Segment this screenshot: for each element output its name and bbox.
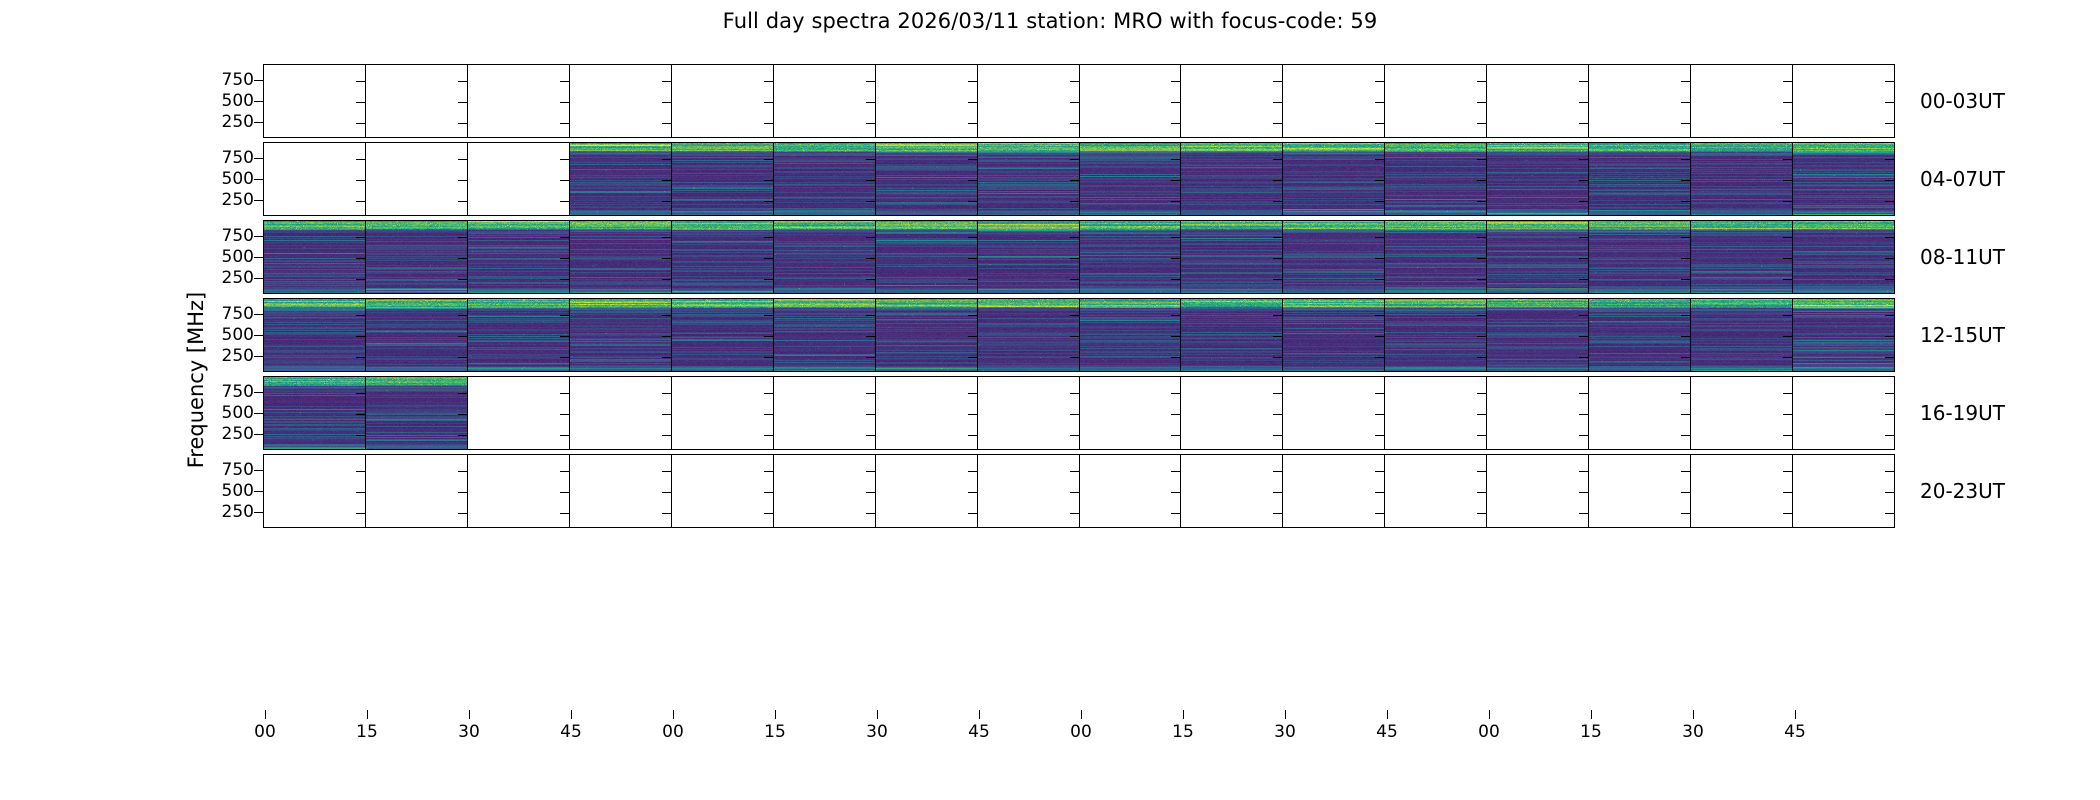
row-cells (264, 221, 1894, 293)
cell-tick-marks (458, 455, 467, 527)
spectrogram-cell-empty[interactable] (1691, 377, 1793, 449)
cell-tick-marks (560, 143, 569, 215)
spectrogram-cell-empty[interactable] (672, 65, 774, 137)
x-tick-mark (877, 710, 878, 719)
cell-tick-marks (356, 455, 365, 527)
cell-tick-marks (560, 377, 569, 449)
spectrogram-cell-empty[interactable] (366, 65, 468, 137)
row-time-label: 04-07UT (1920, 169, 2005, 189)
spectrogram-cell[interactable] (1385, 221, 1487, 293)
spectrogram-cell[interactable] (570, 143, 672, 215)
spectrogram-cell[interactable] (876, 143, 978, 215)
cell-tick-marks (1579, 377, 1588, 449)
y-tick-label: 250 (196, 348, 254, 365)
y-tick-marks (254, 454, 263, 528)
spectrogram-cell[interactable] (672, 221, 774, 293)
y-tick-marks (254, 142, 263, 216)
spectrogram-cell-empty[interactable] (1181, 455, 1283, 527)
cell-tick-marks (1579, 455, 1588, 527)
y-tick-label: 750 (196, 462, 254, 479)
spectrogram-image (774, 221, 875, 293)
spectrogram-cell[interactable] (876, 299, 978, 371)
page-title: Full day spectra 2026/03/11 station: MRO… (0, 8, 2100, 34)
cell-tick-marks (1070, 455, 1079, 527)
cell-tick-marks (764, 65, 773, 137)
spectrogram-cell[interactable] (1181, 299, 1283, 371)
spectrogram-cell-empty[interactable] (1080, 65, 1182, 137)
cell-tick-marks (458, 143, 467, 215)
spectrogram-cell-empty[interactable] (1283, 455, 1385, 527)
spectrogram-cell[interactable] (264, 299, 366, 371)
cell-tick-marks (1375, 455, 1384, 527)
cell-tick-marks (1885, 455, 1894, 527)
spectrogram-cell-empty[interactable] (264, 143, 366, 215)
spectrogram-cell[interactable] (774, 221, 876, 293)
spectrogram-cell[interactable] (1691, 143, 1793, 215)
spectrogram-cell[interactable] (468, 299, 570, 371)
row-cells (264, 377, 1894, 449)
cell-tick-marks (764, 377, 773, 449)
spectrogram-cell-empty[interactable] (570, 377, 672, 449)
spectrogram-cell[interactable] (1487, 221, 1589, 293)
row-time-label: 08-11UT (1920, 247, 2005, 267)
cell-tick-marks (1273, 65, 1282, 137)
spectrogram-image (1181, 299, 1282, 371)
spectrogram-image (1080, 299, 1181, 371)
spectrogram-cell-empty[interactable] (1080, 377, 1182, 449)
spectrogram-cell-empty[interactable] (876, 377, 978, 449)
spectrogram-cell[interactable] (876, 221, 978, 293)
cell-tick-marks (560, 65, 569, 137)
spectrogram-cell[interactable] (978, 221, 1080, 293)
row-axes (263, 298, 1895, 372)
spectrogram-image (1487, 299, 1588, 371)
spectrogram-cell-empty[interactable] (1691, 455, 1793, 527)
spectrogram-image (264, 299, 365, 371)
spectrogram-cell-empty[interactable] (570, 65, 672, 137)
spectrogram-cell-empty[interactable] (978, 65, 1080, 137)
spectrogram-cell-empty[interactable] (1487, 377, 1589, 449)
y-tick-label: 250 (196, 114, 254, 131)
spectrogram-image (1181, 221, 1282, 293)
cell-tick-marks (1273, 455, 1282, 527)
spectrogram-image (1589, 143, 1690, 215)
x-tick-label: 45 (1367, 724, 1407, 741)
spectrogram-figure: Full day spectra 2026/03/11 station: MRO… (0, 0, 2100, 800)
spectrogram-image (264, 377, 365, 449)
x-tick-mark (1183, 710, 1184, 719)
y-tick-label: 750 (196, 384, 254, 401)
spectrogram-cell-empty[interactable] (1589, 455, 1691, 527)
spectrogram-cell[interactable] (1487, 299, 1589, 371)
spectrogram-cell-empty[interactable] (774, 65, 876, 137)
x-tick-label: 15 (347, 724, 387, 741)
spectrogram-cell[interactable] (1589, 299, 1691, 371)
spectrogram-cell-empty[interactable] (264, 65, 366, 137)
row-cells (264, 143, 1894, 215)
cell-tick-marks (1681, 455, 1690, 527)
spectrogram-cell-empty[interactable] (876, 455, 978, 527)
y-tick-label: 250 (196, 192, 254, 209)
spectrogram-cell[interactable] (1793, 299, 1894, 371)
cell-tick-marks (662, 377, 671, 449)
x-tick-label: 45 (959, 724, 999, 741)
x-tick-label: 15 (755, 724, 795, 741)
x-tick-mark (367, 710, 368, 719)
x-tick-mark (979, 710, 980, 719)
x-tick-mark (1591, 710, 1592, 719)
x-tick-label: 00 (1061, 724, 1101, 741)
spectrogram-cell[interactable] (1793, 221, 1894, 293)
spectrogram-cell-empty[interactable] (774, 377, 876, 449)
cell-tick-marks (662, 65, 671, 137)
spectrogram-image (774, 299, 875, 371)
spectrogram-cell[interactable] (366, 377, 468, 449)
row-time-label: 20-23UT (1920, 481, 2005, 501)
spectrogram-cell[interactable] (468, 221, 570, 293)
x-tick-label: 15 (1571, 724, 1611, 741)
x-tick-mark (1081, 710, 1082, 719)
row-time-label: 12-15UT (1920, 325, 2005, 345)
spectrogram-image (570, 143, 671, 215)
spectrogram-cell[interactable] (1080, 299, 1182, 371)
spectrogram-cell[interactable] (1589, 143, 1691, 215)
cell-tick-marks (1171, 377, 1180, 449)
spectrogram-cell-empty[interactable] (1181, 65, 1283, 137)
row-axes (263, 220, 1895, 294)
cell-tick-marks (1070, 377, 1079, 449)
spectrogram-image (366, 299, 467, 371)
spectrogram-row-16-19ut (263, 376, 1895, 450)
spectrogram-cell[interactable] (1487, 143, 1589, 215)
x-tick-mark (469, 710, 470, 719)
cell-tick-marks (1171, 455, 1180, 527)
cell-tick-marks (968, 455, 977, 527)
cell-tick-marks (1783, 455, 1792, 527)
y-tick-label: 250 (196, 426, 254, 443)
x-tick-label: 30 (1673, 724, 1713, 741)
spectrogram-cell-empty[interactable] (468, 455, 570, 527)
cell-tick-marks (1375, 377, 1384, 449)
spectrogram-row-08-11ut (263, 220, 1895, 294)
spectrogram-cell-empty[interactable] (366, 143, 468, 215)
cell-tick-marks (560, 455, 569, 527)
spectrogram-cell-empty[interactable] (468, 377, 570, 449)
spectrogram-cell-empty[interactable] (1793, 377, 1894, 449)
spectrogram-image (366, 221, 467, 293)
spectrogram-cell-empty[interactable] (468, 143, 570, 215)
spectrogram-image (774, 143, 875, 215)
spectrogram-cell-empty[interactable] (1385, 455, 1487, 527)
spectrogram-image (1691, 143, 1792, 215)
spectrogram-cell[interactable] (774, 299, 876, 371)
spectrogram-cell-empty[interactable] (570, 455, 672, 527)
spectrogram-image (1283, 143, 1384, 215)
x-tick-label: 00 (653, 724, 693, 741)
cell-tick-marks (866, 65, 875, 137)
spectrogram-cell[interactable] (978, 143, 1080, 215)
spectrogram-image (1385, 143, 1486, 215)
cell-tick-marks (1783, 377, 1792, 449)
spectrogram-image (1793, 143, 1894, 215)
spectrogram-image (1080, 221, 1181, 293)
cell-tick-marks (1070, 65, 1079, 137)
x-tick-label: 00 (245, 724, 285, 741)
spectrogram-image (978, 221, 1079, 293)
spectrogram-cell-empty[interactable] (876, 65, 978, 137)
spectrogram-cell-empty[interactable] (774, 455, 876, 527)
x-tick-label: 00 (1469, 724, 1509, 741)
spectrogram-cell[interactable] (1385, 143, 1487, 215)
cell-tick-marks (356, 143, 365, 215)
spectrogram-cell[interactable] (1385, 299, 1487, 371)
cell-tick-marks (458, 65, 467, 137)
row-axes (263, 64, 1895, 138)
spectrogram-image (876, 221, 977, 293)
cell-tick-marks (968, 65, 977, 137)
cell-tick-marks (1375, 65, 1384, 137)
spectrogram-cell-empty[interactable] (978, 455, 1080, 527)
spectrogram-image (1283, 299, 1384, 371)
spectrogram-cell[interactable] (366, 299, 468, 371)
cell-tick-marks (1681, 377, 1690, 449)
cell-tick-marks (764, 455, 773, 527)
row-time-label: 00-03UT (1920, 91, 2005, 111)
spectrogram-cell[interactable] (264, 377, 366, 449)
spectrogram-image (1080, 143, 1181, 215)
spectrogram-image (468, 221, 569, 293)
spectrogram-image (366, 377, 467, 449)
x-tick-label: 30 (1265, 724, 1305, 741)
spectrogram-image (1385, 299, 1486, 371)
spectrogram-image (1589, 299, 1690, 371)
x-tick-mark (1489, 710, 1490, 719)
row-cells (264, 455, 1894, 527)
spectrogram-cell-empty[interactable] (1181, 377, 1283, 449)
spectrogram-cell[interactable] (1691, 221, 1793, 293)
spectrogram-cell-empty[interactable] (1487, 455, 1589, 527)
x-tick-label: 30 (449, 724, 489, 741)
spectrogram-cell-empty[interactable] (1283, 65, 1385, 137)
spectrogram-image (1181, 143, 1282, 215)
spectrogram-cell-empty[interactable] (1487, 65, 1589, 137)
x-tick-label: 45 (1775, 724, 1815, 741)
y-tick-marks (254, 376, 263, 450)
spectrogram-cell-empty[interactable] (1080, 455, 1182, 527)
x-tick-label: 15 (1163, 724, 1203, 741)
spectrogram-image (1487, 143, 1588, 215)
x-tick-mark (775, 710, 776, 719)
x-axis: 00153045001530450015304500153045 (263, 710, 1895, 750)
spectrogram-cell-empty[interactable] (1283, 377, 1385, 449)
y-tick-marks (254, 64, 263, 138)
spectrogram-cell[interactable] (1691, 299, 1793, 371)
spectrogram-cell[interactable] (1283, 221, 1385, 293)
spectrogram-cell[interactable] (570, 221, 672, 293)
cell-tick-marks (1477, 377, 1486, 449)
x-tick-mark (1285, 710, 1286, 719)
spectrogram-cell[interactable] (774, 143, 876, 215)
y-tick-label: 500 (196, 483, 254, 500)
cell-tick-marks (356, 65, 365, 137)
spectrogram-cell-empty[interactable] (672, 377, 774, 449)
spectrogram-image (1283, 221, 1384, 293)
spectrogram-cell-empty[interactable] (264, 455, 366, 527)
y-tick-label: 500 (196, 93, 254, 110)
x-tick-mark (1795, 710, 1796, 719)
spectrogram-cell-empty[interactable] (1589, 65, 1691, 137)
spectrogram-image (978, 299, 1079, 371)
spectrogram-image (978, 143, 1079, 215)
row-axes (263, 454, 1895, 528)
cell-tick-marks (1681, 65, 1690, 137)
cell-tick-marks (1885, 377, 1894, 449)
spectrogram-cell[interactable] (1080, 221, 1182, 293)
row-time-label: 16-19UT (1920, 403, 2005, 423)
spectrogram-row-12-15ut (263, 298, 1895, 372)
spectrogram-row-00-03ut (263, 64, 1895, 138)
spectrogram-row-20-23ut (263, 454, 1895, 528)
spectrogram-cell[interactable] (1181, 221, 1283, 293)
x-tick-label: 30 (857, 724, 897, 741)
cell-tick-marks (866, 455, 875, 527)
spectrogram-image (1691, 221, 1792, 293)
x-tick-mark (265, 710, 266, 719)
y-tick-label: 500 (196, 405, 254, 422)
spectrogram-image (672, 299, 773, 371)
cell-tick-marks (1783, 65, 1792, 137)
spectrogram-cell-empty[interactable] (1793, 65, 1894, 137)
spectrogram-cell[interactable] (1793, 143, 1894, 215)
spectrogram-image (1487, 221, 1588, 293)
cell-tick-marks (1885, 65, 1894, 137)
row-cells (264, 299, 1894, 371)
y-tick-label: 500 (196, 249, 254, 266)
spectrogram-cell-empty[interactable] (978, 377, 1080, 449)
spectrogram-cell-empty[interactable] (468, 65, 570, 137)
spectrogram-cell-empty[interactable] (366, 455, 468, 527)
x-tick-mark (1387, 710, 1388, 719)
cell-tick-marks (1477, 65, 1486, 137)
spectrogram-cell[interactable] (978, 299, 1080, 371)
spectrogram-image (1691, 299, 1792, 371)
cell-tick-marks (1273, 377, 1282, 449)
row-cells (264, 65, 1894, 137)
y-tick-label: 750 (196, 306, 254, 323)
y-tick-label: 750 (196, 72, 254, 89)
spectrogram-cell-empty[interactable] (1691, 65, 1793, 137)
y-tick-label: 250 (196, 504, 254, 521)
spectrogram-image (672, 143, 773, 215)
x-tick-mark (1693, 710, 1694, 719)
spectrogram-image (570, 221, 671, 293)
x-tick-label: 45 (551, 724, 591, 741)
spectrogram-cell-empty[interactable] (672, 455, 774, 527)
spectrogram-row-04-07ut (263, 142, 1895, 216)
y-tick-marks (254, 220, 263, 294)
y-tick-label: 250 (196, 270, 254, 287)
spectrogram-image (1589, 221, 1690, 293)
spectrogram-cell[interactable] (1589, 221, 1691, 293)
x-tick-mark (673, 710, 674, 719)
cell-tick-marks (1579, 65, 1588, 137)
spectrogram-cell-empty[interactable] (1793, 455, 1894, 527)
spectrogram-cell-empty[interactable] (1385, 377, 1487, 449)
y-tick-label: 500 (196, 171, 254, 188)
y-tick-marks (254, 298, 263, 372)
spectrogram-cell[interactable] (1283, 299, 1385, 371)
spectrogram-cell[interactable] (1080, 143, 1182, 215)
cell-tick-marks (866, 377, 875, 449)
spectrogram-image (468, 299, 569, 371)
spectrogram-image (876, 299, 977, 371)
spectrogram-cell[interactable] (672, 143, 774, 215)
spectrogram-image (570, 299, 671, 371)
y-tick-label: 750 (196, 150, 254, 167)
spectrogram-image (672, 221, 773, 293)
spectrogram-image (1793, 221, 1894, 293)
spectrogram-image (1385, 221, 1486, 293)
spectrogram-cell[interactable] (366, 221, 468, 293)
spectrogram-image (264, 221, 365, 293)
spectrogram-cell-empty[interactable] (1385, 65, 1487, 137)
spectrogram-cell[interactable] (1283, 143, 1385, 215)
x-tick-mark (571, 710, 572, 719)
spectrogram-cell[interactable] (1181, 143, 1283, 215)
spectrogram-cell[interactable] (570, 299, 672, 371)
y-tick-label: 500 (196, 327, 254, 344)
cell-tick-marks (1171, 65, 1180, 137)
cell-tick-marks (662, 455, 671, 527)
cell-tick-marks (968, 377, 977, 449)
y-tick-label: 750 (196, 228, 254, 245)
spectrogram-cell-empty[interactable] (1589, 377, 1691, 449)
spectrogram-image (1793, 299, 1894, 371)
row-axes (263, 142, 1895, 216)
spectrogram-image (876, 143, 977, 215)
cell-tick-marks (1477, 455, 1486, 527)
spectrogram-cell[interactable] (672, 299, 774, 371)
spectrogram-cell[interactable] (264, 221, 366, 293)
row-axes (263, 376, 1895, 450)
